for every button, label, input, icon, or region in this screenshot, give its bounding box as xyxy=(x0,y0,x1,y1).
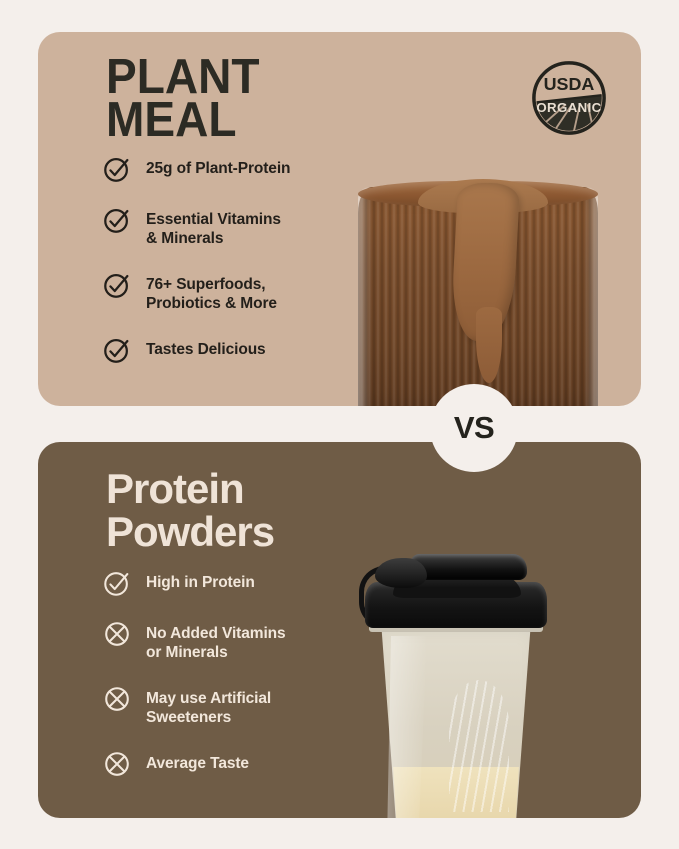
list-item-label: No Added Vitamins or Minerals xyxy=(146,621,286,663)
x-circle-icon xyxy=(102,749,132,779)
protein-powders-title: Protein Powders xyxy=(106,468,274,554)
check-circle-icon xyxy=(102,568,132,598)
plant-meal-feature-list: 25g of Plant-Protein Essential Vitamins … xyxy=(102,156,290,388)
usda-seal-top-text: USDA xyxy=(544,74,595,94)
protein-powders-feature-list: High in Protein No Added Vitamins or Min… xyxy=(102,570,286,802)
glass-right-edge xyxy=(586,187,598,406)
check-circle-icon xyxy=(102,205,132,235)
versus-badge-label: VS xyxy=(454,410,494,446)
list-item: No Added Vitamins or Minerals xyxy=(102,621,286,663)
check-circle-icon xyxy=(102,335,132,365)
versus-badge: VS xyxy=(430,384,518,472)
list-item: May use Artificial Sweeteners xyxy=(102,686,286,728)
plant-meal-product-image xyxy=(358,187,598,406)
list-item: Essential Vitamins & Minerals xyxy=(102,207,290,249)
list-item: High in Protein xyxy=(102,570,286,598)
list-item: Tastes Delicious xyxy=(102,337,290,365)
check-circle-icon xyxy=(102,270,132,300)
list-item: 76+ Superfoods, Probiotics & More xyxy=(102,272,290,314)
list-item-label: 76+ Superfoods, Probiotics & More xyxy=(146,272,277,314)
list-item-label: May use Artificial Sweeteners xyxy=(146,686,271,728)
comparison-infographic: PLANT MEAL USDA ORGANIC xyxy=(0,0,679,849)
usda-seal-bottom-text: ORGANIC xyxy=(536,100,601,115)
usda-organic-seal: USDA ORGANIC xyxy=(530,59,608,137)
list-item-label: Essential Vitamins & Minerals xyxy=(146,207,281,249)
x-circle-icon xyxy=(102,684,132,714)
list-item: Average Taste xyxy=(102,751,286,779)
glass-left-edge xyxy=(358,187,370,406)
protein-powder-product-image xyxy=(353,552,559,818)
list-item-label: Tastes Delicious xyxy=(146,337,266,360)
protein-powders-panel: Protein Powders High i xyxy=(38,442,641,818)
list-item-label: High in Protein xyxy=(146,570,255,593)
shaker-flip-tab xyxy=(375,558,427,588)
shaker-mixer-grid xyxy=(449,680,509,812)
list-item-label: 25g of Plant-Protein xyxy=(146,156,290,179)
plant-meal-title: PLANT MEAL xyxy=(106,56,260,142)
plant-meal-panel: PLANT MEAL USDA ORGANIC xyxy=(38,32,641,406)
list-item: 25g of Plant-Protein xyxy=(102,156,290,184)
x-circle-icon xyxy=(102,619,132,649)
list-item-label: Average Taste xyxy=(146,751,249,774)
check-circle-icon xyxy=(102,154,132,184)
